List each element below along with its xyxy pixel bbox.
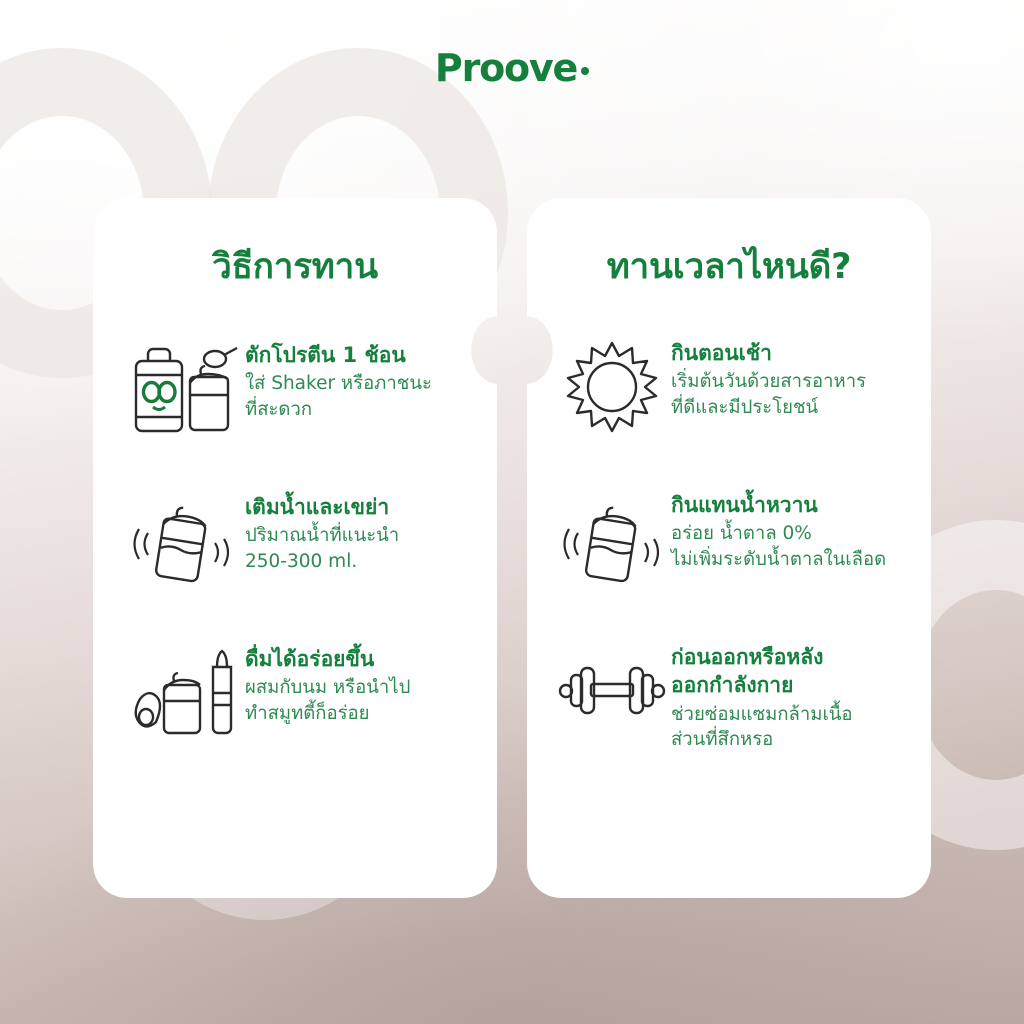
list-item: ก่อนออกหรือหลัง ออกกำลังกาย ช่วยซ่อมแซมก… (553, 639, 909, 752)
list-item-desc: ช่วยซ่อมแซมกล้ามเนื้อ ส่วนที่สึกหรอ (671, 702, 909, 753)
list-item-text: กินแทนน้ำหวาน อร่อย น้ำตาล 0% ไม่เพิ่มระ… (671, 487, 909, 572)
avocado-cup-bottle-icon (119, 639, 245, 743)
card-when-to-take: ทานเวลาไหนดี? กินตอนเช้า เริ่มต้นวันด้วย… (527, 198, 931, 898)
list-item-desc: อร่อย น้ำตาล 0% ไม่เพิ่มระดับน้ำตาลในเลื… (671, 521, 909, 572)
card-title-how-to-take: วิธีการทาน (93, 244, 497, 291)
protein-tub-and-shaker-icon (119, 335, 245, 439)
item-list-when-to-take: กินตอนเช้า เริ่มต้นวันด้วยสารอาหาร ที่ดี… (527, 335, 931, 752)
list-item: ตักโปรตีน 1 ช้อน ใส่ Shaker หรือภาชนะ ที… (119, 335, 475, 439)
list-item-text: เติมน้ำและเขย่า ปริมาณน้ำที่แนะนำ 250-30… (245, 487, 475, 574)
brand-logo-text: Proove (435, 46, 577, 90)
list-item-desc: ปริมาณน้ำที่แนะนำ 250-300 ml. (245, 523, 475, 574)
list-item: กินตอนเช้า เริ่มต้นวันด้วยสารอาหาร ที่ดี… (553, 335, 909, 439)
list-item-desc: ใส่ Shaker หรือภาชนะ ที่สะดวก (245, 371, 475, 422)
list-item: เติมน้ำและเขย่า ปริมาณน้ำที่แนะนำ 250-30… (119, 487, 475, 591)
sun-icon (553, 335, 671, 439)
list-item-title: ก่อนออกหรือหลัง ออกกำลังกาย (671, 643, 909, 699)
list-item-title: กินตอนเช้า (671, 339, 909, 367)
card-how-to-take: วิธีการทาน (93, 198, 497, 898)
item-list-how-to-take: ตักโปรตีน 1 ช้อน ใส่ Shaker หรือภาชนะ ที… (93, 335, 497, 743)
list-item-title: ดื่มได้อร่อยขึ้น (245, 645, 475, 673)
list-item-title: เติมน้ำและเขย่า (245, 493, 475, 521)
list-item-text: กินตอนเช้า เริ่มต้นวันด้วยสารอาหาร ที่ดี… (671, 335, 909, 420)
dumbbell-icon (553, 639, 671, 743)
list-item-text: ดื่มได้อร่อยขึ้น ผสมกับนม หรือนำไป ทำสมู… (245, 639, 475, 726)
brand-logo-dot (581, 67, 589, 75)
card-title-when-to-take: ทานเวลาไหนดี? (527, 244, 931, 291)
list-item: ดื่มได้อร่อยขึ้น ผสมกับนม หรือนำไป ทำสมู… (119, 639, 475, 743)
list-item-title: ตักโปรตีน 1 ช้อน (245, 341, 475, 369)
list-item-text: ตักโปรตีน 1 ช้อน ใส่ Shaker หรือภาชนะ ที… (245, 335, 475, 422)
shaking-cup-icon (119, 487, 245, 591)
list-item: กินแทนน้ำหวาน อร่อย น้ำตาล 0% ไม่เพิ่มระ… (553, 487, 909, 591)
shaking-cup-icon (553, 487, 671, 591)
list-item-desc: ผสมกับนม หรือนำไป ทำสมูทตี้ก็อร่อย (245, 675, 475, 726)
list-item-title: กินแทนน้ำหวาน (671, 491, 909, 519)
list-item-text: ก่อนออกหรือหลัง ออกกำลังกาย ช่วยซ่อมแซมก… (671, 639, 909, 752)
brand-logo: Proove (0, 46, 1024, 90)
cards-container: วิธีการทาน (93, 198, 931, 898)
list-item-desc: เริ่มต้นวันด้วยสารอาหาร ที่ดีและมีประโยช… (671, 369, 909, 420)
